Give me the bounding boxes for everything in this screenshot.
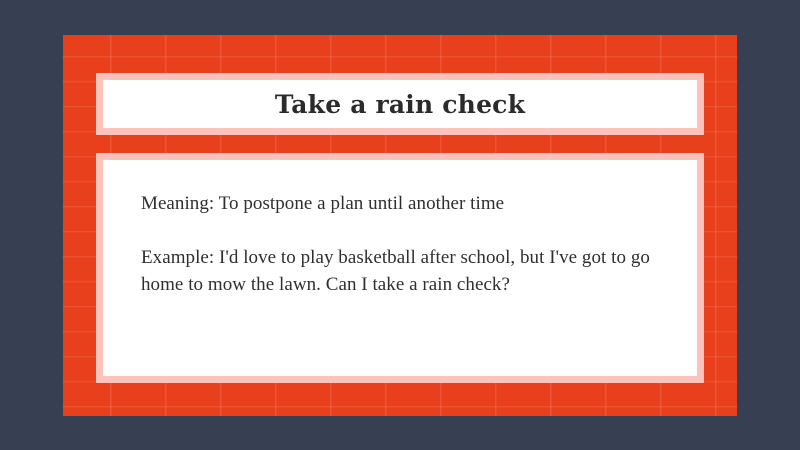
example-text: Example: I'd love to play basketball aft… — [141, 244, 663, 299]
content-card: Meaning: To postpone a plan until anothe… — [96, 153, 704, 383]
page-title: Take a rain check — [275, 92, 525, 117]
slide-canvas: Take a rain check Meaning: To postpone a… — [0, 0, 800, 450]
meaning-text: Meaning: To postpone a plan until anothe… — [141, 190, 663, 218]
title-card: Take a rain check — [96, 73, 704, 135]
